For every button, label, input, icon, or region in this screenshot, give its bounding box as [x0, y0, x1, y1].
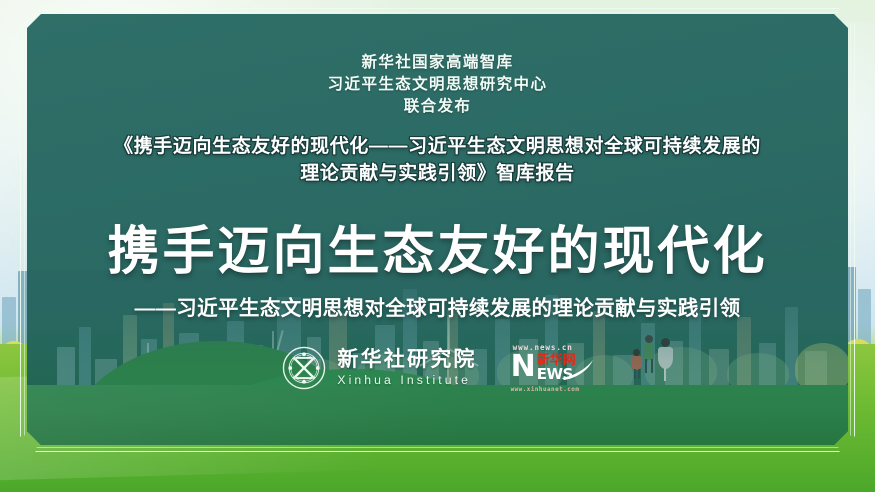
organization-line-2: 习近平生态文明思想研究中心: [27, 74, 848, 96]
organization-block: 新华社国家高端智库 习近平生态文明思想研究中心 联合发布: [27, 52, 848, 118]
report-name-block: 《携手迈向生态友好的现代化——习近平生态文明思想对全球可持续发展的 理论贡献与实…: [27, 133, 848, 187]
xinhuanet-mark-letter: N: [511, 352, 536, 382]
xinhuanet-logo: www.news.cn N 新华网 EWS www.xinhuanet.com: [507, 343, 593, 393]
logo-row: 新华社研究院 Xinhua Institute www.news.cn N 新华…: [27, 343, 848, 393]
xinhua-institute-name-en: Xinhua Institute: [337, 374, 471, 386]
teal-panel: 新华社国家高端智库 习近平生态文明思想研究中心 联合发布 《携手迈向生态友好的现…: [27, 14, 848, 445]
page-subtitle: ——习近平生态文明思想对全球可持续发展的理论贡献与实践引领: [27, 295, 848, 323]
organization-line-3: 联合发布: [27, 96, 848, 118]
xinhua-institute-name-cn: 新华社研究院: [337, 349, 476, 370]
xinhua-institute-emblem-icon: [282, 346, 326, 390]
poster-canvas: 新华社国家高端智库 习近平生态文明思想研究中心 联合发布 《携手迈向生态友好的现…: [0, 0, 875, 492]
organization-line-1: 新华社国家高端智库: [27, 52, 848, 74]
poster-content: 新华社国家高端智库 习近平生态文明思想研究中心 联合发布 《携手迈向生态友好的现…: [27, 14, 848, 323]
xinhuanet-swoosh-icon: [561, 359, 595, 386]
xinhua-institute-logo: 新华社研究院 Xinhua Institute: [282, 346, 476, 390]
xinhua-institute-wordmark: 新华社研究院 Xinhua Institute: [337, 349, 476, 386]
report-name-line-2: 理论贡献与实践引领》智库报告: [27, 160, 848, 187]
page-title: 携手迈向生态友好的现代化: [27, 223, 848, 281]
xinhuanet-url-bottom: www.xinhuanet.com: [511, 387, 580, 393]
report-name-line-1: 《携手迈向生态友好的现代化——习近平生态文明思想对全球可持续发展的: [27, 133, 848, 160]
